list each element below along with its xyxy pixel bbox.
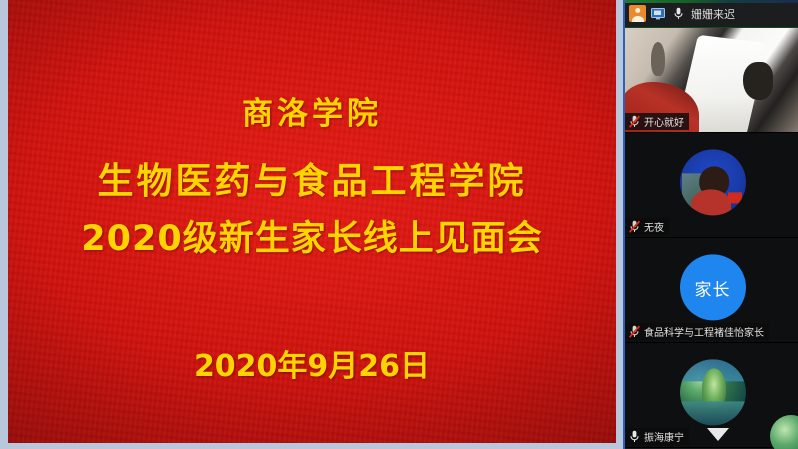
participant-label: 开心就好 xyxy=(625,113,689,130)
avatar xyxy=(680,149,746,215)
participant-name-label: 无夜 xyxy=(644,219,664,234)
avatar: 家长 xyxy=(680,254,746,320)
person-avatar-icon xyxy=(629,5,646,22)
avatar-initials-label: 家长 xyxy=(695,275,731,300)
presentation-slide[interactable]: 商洛学院 生物医药与食品工程学院 2020级新生家长线上见面会 2020年9月2… xyxy=(8,0,616,443)
participant-name-label: 食品科学与工程褚佳怡家长 xyxy=(644,324,764,339)
slide-date: 2020年9月26日 xyxy=(8,341,616,385)
participant-label: 振海康宁 xyxy=(625,428,689,445)
self-name-label: 姗姗来迟 xyxy=(691,6,735,22)
screen-share-icon[interactable] xyxy=(650,7,666,21)
video-shape xyxy=(743,62,773,100)
active-speaker-accent xyxy=(625,0,798,3)
slide-event-title: 2020级新生家长线上见面会 xyxy=(8,210,616,261)
meeting-window: 商洛学院 生物医药与食品工程学院 2020级新生家长线上见面会 2020年9月2… xyxy=(0,0,798,449)
microphone-muted-icon xyxy=(629,325,640,338)
microphone-icon xyxy=(629,430,640,443)
participant-tile[interactable]: 家长 食品科学与工程褚佳怡家长 xyxy=(625,238,798,343)
participant-tile[interactable]: 无夜 xyxy=(625,133,798,238)
video-shape xyxy=(651,42,665,76)
microphone-icon[interactable] xyxy=(670,7,686,21)
participant-name-label: 振海康宁 xyxy=(644,429,684,444)
avatar-shape xyxy=(680,402,746,426)
microphone-muted-icon xyxy=(629,220,640,233)
screen-share-stage[interactable]: 商洛学院 生物医药与食品工程学院 2020级新生家长线上见面会 2020年9月2… xyxy=(0,0,623,449)
participant-label: 无夜 xyxy=(625,218,669,235)
avatar-shape xyxy=(728,192,742,203)
participant-sidebar[interactable]: 姗姗来迟 开心就好 xyxy=(623,0,798,449)
slide-college-title: 生物医药与食品工程学院 xyxy=(8,152,616,204)
slide-institution-title: 商洛学院 xyxy=(8,88,616,133)
self-status-bar[interactable]: 姗姗来迟 xyxy=(625,0,798,28)
avatar xyxy=(680,359,746,425)
chevron-down-icon[interactable] xyxy=(707,428,729,441)
avatar-shape xyxy=(691,189,731,215)
microphone-muted-icon xyxy=(629,115,640,128)
participant-label: 食品科学与工程褚佳怡家长 xyxy=(625,323,769,340)
participant-tile[interactable]: 开心就好 xyxy=(625,28,798,133)
participant-name-label: 开心就好 xyxy=(644,114,684,129)
